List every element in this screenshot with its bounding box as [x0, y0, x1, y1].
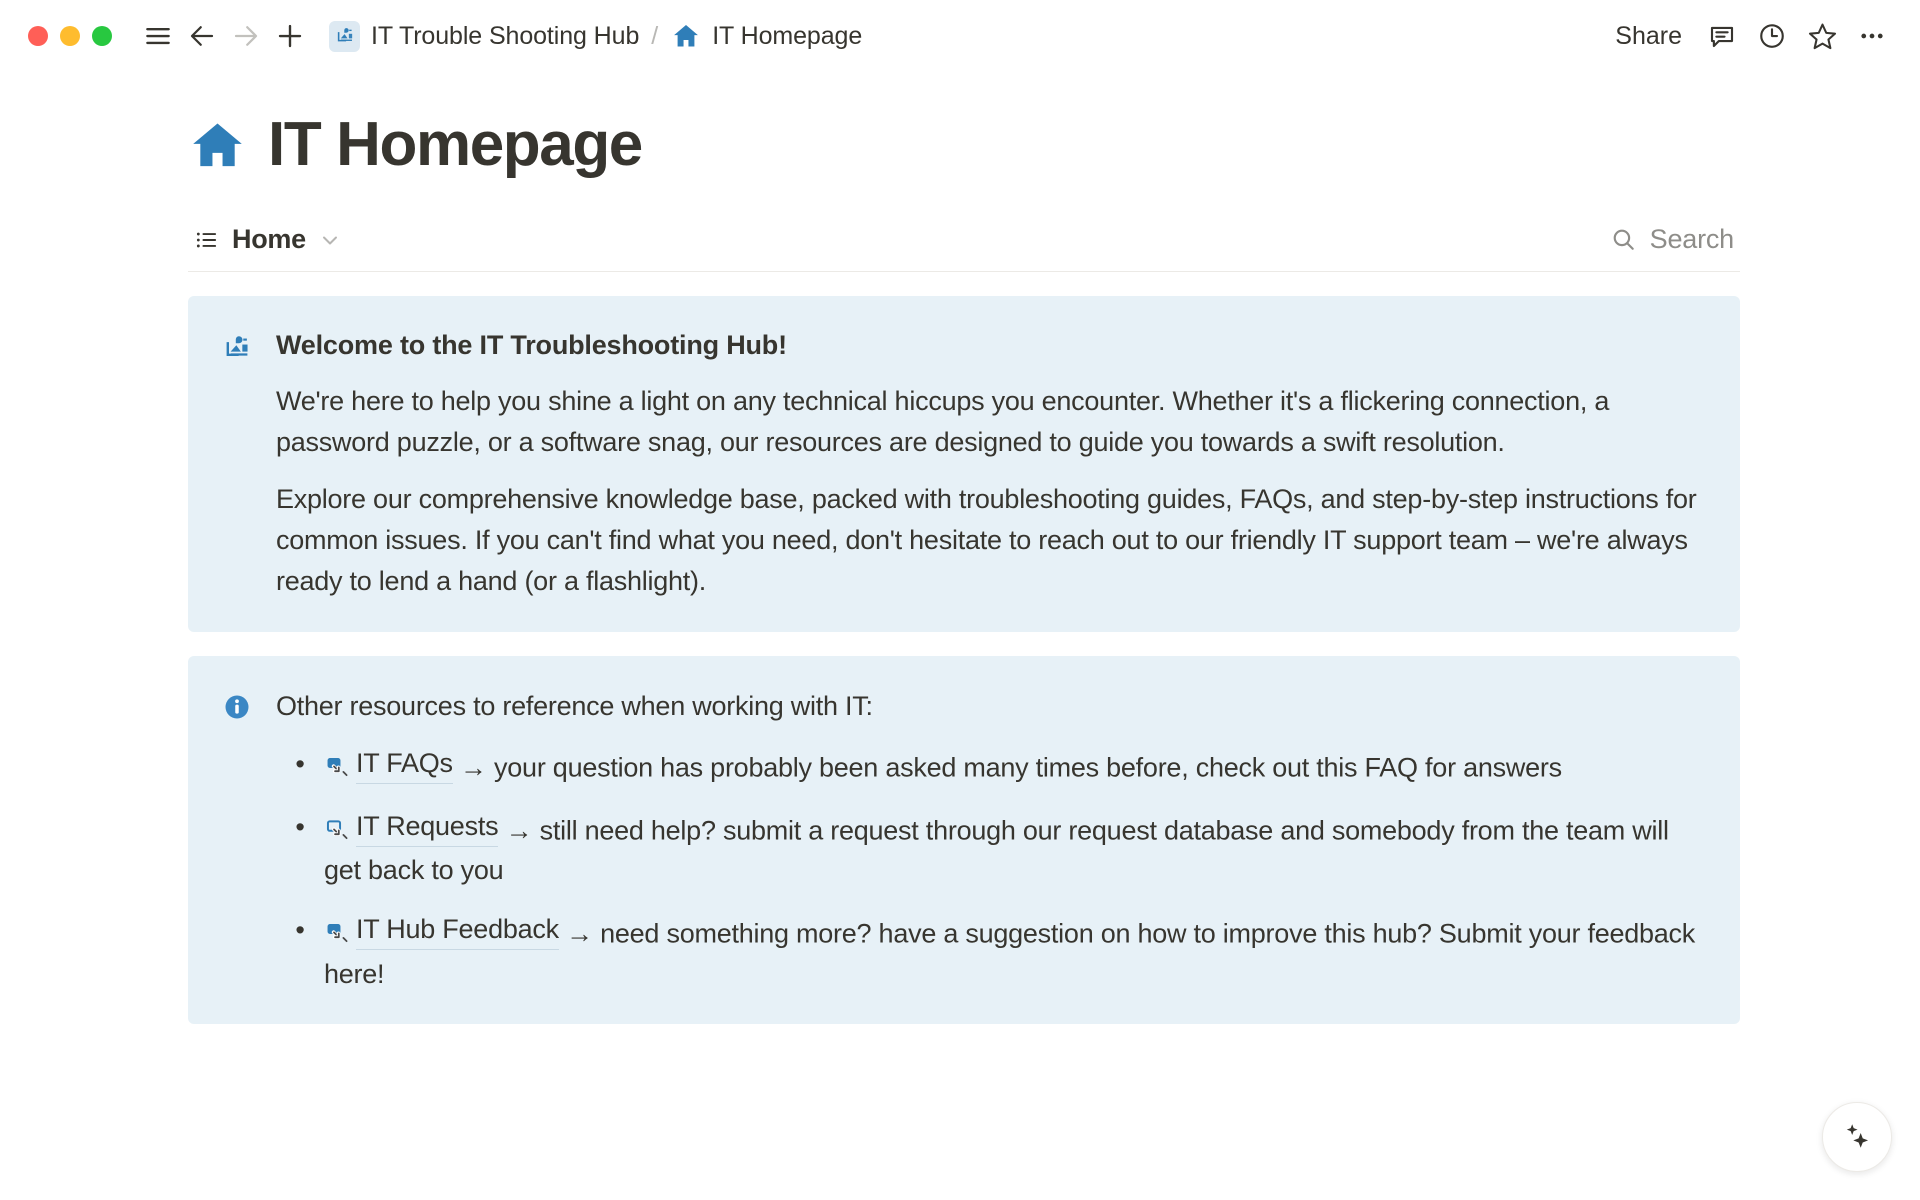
bullet-marker: •	[276, 806, 324, 848]
search-label: Search	[1650, 224, 1734, 255]
list-item-text: IT Hub Feedback → need something more? h…	[324, 909, 1706, 994]
minimize-window-button[interactable]	[60, 26, 80, 46]
view-tab-home[interactable]: Home	[188, 222, 348, 257]
page-area: IT Homepage Home	[0, 72, 1920, 1024]
welcome-callout: Welcome to the IT Troubleshooting Hub! W…	[188, 296, 1740, 632]
view-bar: Home Search	[188, 222, 1740, 272]
arrow-left-icon[interactable]	[180, 14, 224, 58]
list-item: • IT Hub Feedback → need something more?…	[276, 909, 1706, 994]
link-label: IT FAQs	[356, 743, 453, 785]
arrow-right-icon[interactable]	[224, 14, 268, 58]
list-view-icon	[194, 227, 220, 253]
welcome-callout-title: Welcome to the IT Troubleshooting Hub!	[276, 326, 1706, 365]
page-header: IT Homepage	[180, 72, 1740, 176]
resources-list: • IT FAQs → your question has probably b…	[276, 743, 1706, 994]
resources-callout: Other resources to reference when workin…	[188, 656, 1740, 1024]
page-title: IT Homepage	[268, 114, 642, 176]
view-bar-search[interactable]: Search	[1610, 224, 1740, 255]
close-window-button[interactable]	[28, 26, 48, 46]
list-item-text: IT FAQs → your question has probably bee…	[324, 743, 1706, 788]
list-item: • IT FAQs → your question has probably b…	[276, 743, 1706, 788]
info-circle-icon	[220, 686, 254, 994]
breadcrumb-parent-label: IT Trouble Shooting Hub	[371, 22, 639, 51]
page-link-filled-icon	[324, 920, 349, 945]
person-at-desk-icon	[220, 326, 254, 602]
link-label: IT Hub Feedback	[356, 909, 559, 951]
titlebar: IT Trouble Shooting Hub / IT Homepage Sh…	[0, 0, 1920, 72]
page-content: IT Homepage Home	[180, 72, 1740, 1024]
breadcrumb-current-label: IT Homepage	[712, 22, 862, 51]
titlebar-actions: Share	[1603, 14, 1894, 58]
breadcrumb: IT Trouble Shooting Hub / IT Homepage	[322, 17, 869, 56]
welcome-paragraph-2: Explore our comprehensive knowledge base…	[276, 479, 1706, 602]
view-name-label: Home	[232, 224, 306, 255]
ai-assistant-button[interactable]	[1822, 1102, 1892, 1172]
list-item: • IT Requests → still need help? submit …	[276, 806, 1706, 891]
traffic-lights	[28, 26, 112, 46]
breadcrumb-item-current[interactable]: IT Homepage	[663, 17, 869, 56]
search-icon	[1610, 226, 1637, 253]
list-item-description: → still need help? submit a request thro…	[324, 815, 1669, 886]
page-link-filled-icon	[324, 754, 349, 779]
breadcrumb-item-parent[interactable]: IT Trouble Shooting Hub	[322, 17, 646, 56]
zoom-window-button[interactable]	[92, 26, 112, 46]
page-link-it-requests[interactable]: IT Requests	[324, 806, 498, 848]
resources-lead-text: Other resources to reference when workin…	[276, 686, 1706, 727]
person-at-desk-icon	[329, 21, 360, 52]
list-item-text: IT Requests → still need help? submit a …	[324, 806, 1706, 891]
clock-icon[interactable]	[1750, 14, 1794, 58]
list-item-description: → your question has probably been asked …	[453, 752, 1562, 782]
comment-bubble-icon[interactable]	[1700, 14, 1744, 58]
bullet-marker: •	[276, 909, 324, 951]
database-link-outline-icon	[324, 817, 349, 842]
link-label: IT Requests	[356, 806, 498, 848]
star-outline-icon[interactable]	[1800, 14, 1844, 58]
hamburger-menu-icon[interactable]	[136, 14, 180, 58]
breadcrumb-separator: /	[646, 22, 663, 51]
bullet-marker: •	[276, 743, 324, 785]
welcome-callout-body: Welcome to the IT Troubleshooting Hub! W…	[276, 326, 1706, 602]
chevron-down-icon[interactable]	[318, 228, 342, 252]
page-link-it-faqs[interactable]: IT FAQs	[324, 743, 453, 785]
page-link-it-hub-feedback[interactable]: IT Hub Feedback	[324, 909, 559, 951]
ellipsis-icon[interactable]	[1850, 14, 1894, 58]
house-icon[interactable]	[188, 116, 246, 174]
share-button[interactable]: Share	[1603, 16, 1694, 57]
sparkles-icon	[1840, 1118, 1874, 1157]
welcome-paragraph-1: We're here to help you shine a light on …	[276, 381, 1706, 463]
resources-callout-body: Other resources to reference when workin…	[276, 686, 1706, 994]
plus-icon[interactable]	[268, 14, 312, 58]
app-window: IT Trouble Shooting Hub / IT Homepage Sh…	[0, 0, 1920, 1200]
house-icon	[670, 21, 701, 52]
